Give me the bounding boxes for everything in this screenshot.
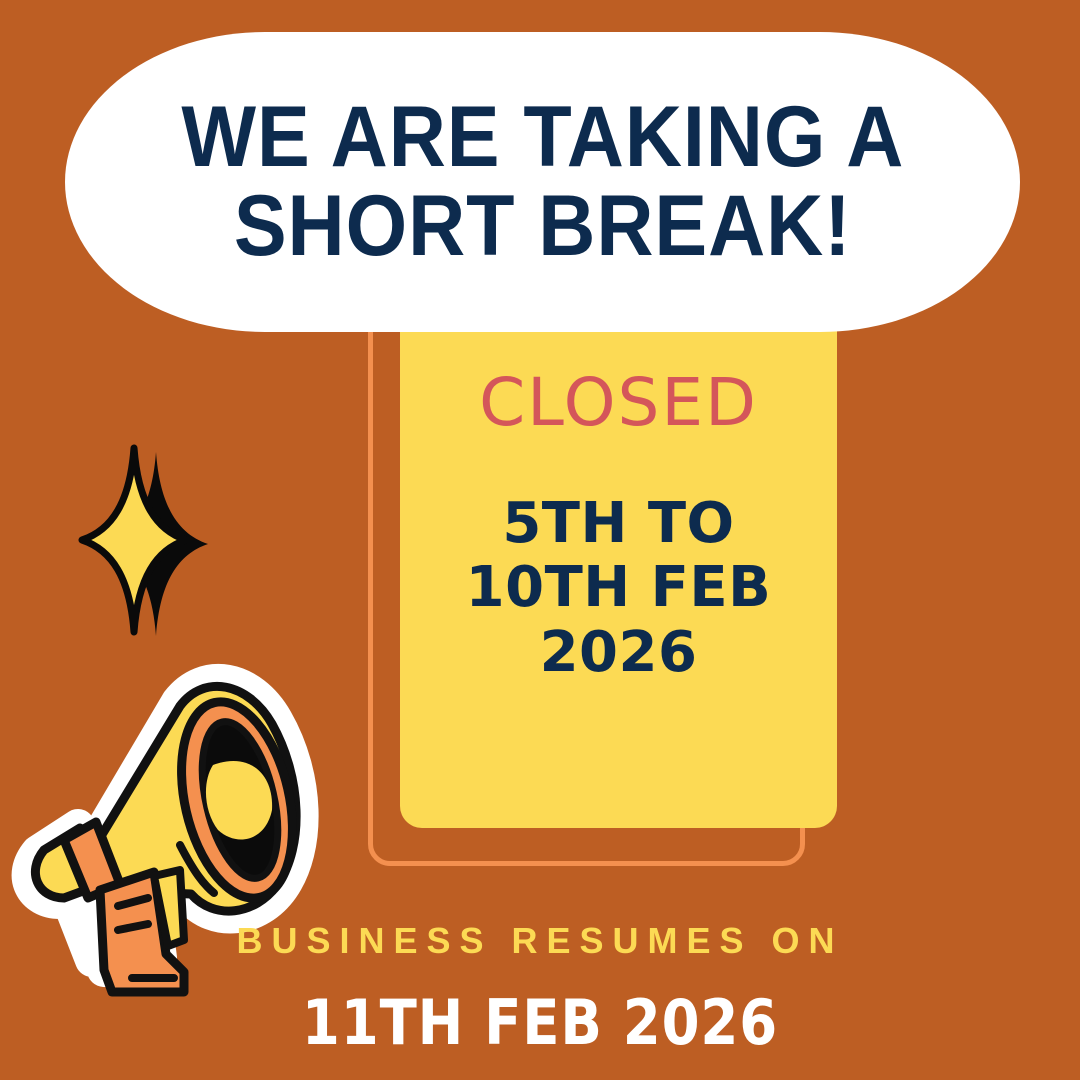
- headline-line-2: SHORT BREAK!: [234, 182, 852, 271]
- closure-date-line-3: 2026: [414, 621, 823, 685]
- closure-card: CLOSED 5TH TO 10TH FEB 2026: [400, 262, 837, 828]
- headline-line-1: WE ARE TAKING A: [181, 93, 904, 182]
- status-badge: CLOSED: [400, 370, 837, 436]
- resume-label: BUSINESS RESUMES ON: [0, 920, 1080, 962]
- closure-date-range: 5TH TO 10TH FEB 2026: [400, 492, 837, 685]
- card-content: CLOSED 5TH TO 10TH FEB 2026: [400, 370, 837, 685]
- headline-banner: WE ARE TAKING A SHORT BREAK!: [65, 32, 1020, 332]
- resume-date: 11TH FEB 2026: [65, 986, 1015, 1059]
- sparkle-star-icon: [52, 442, 232, 638]
- poster-canvas: CLOSED 5TH TO 10TH FEB 2026 WE ARE TAKIN…: [0, 0, 1080, 1080]
- closure-date-line-2: 10TH FEB: [414, 556, 823, 620]
- closure-date-line-1: 5TH TO: [414, 492, 823, 556]
